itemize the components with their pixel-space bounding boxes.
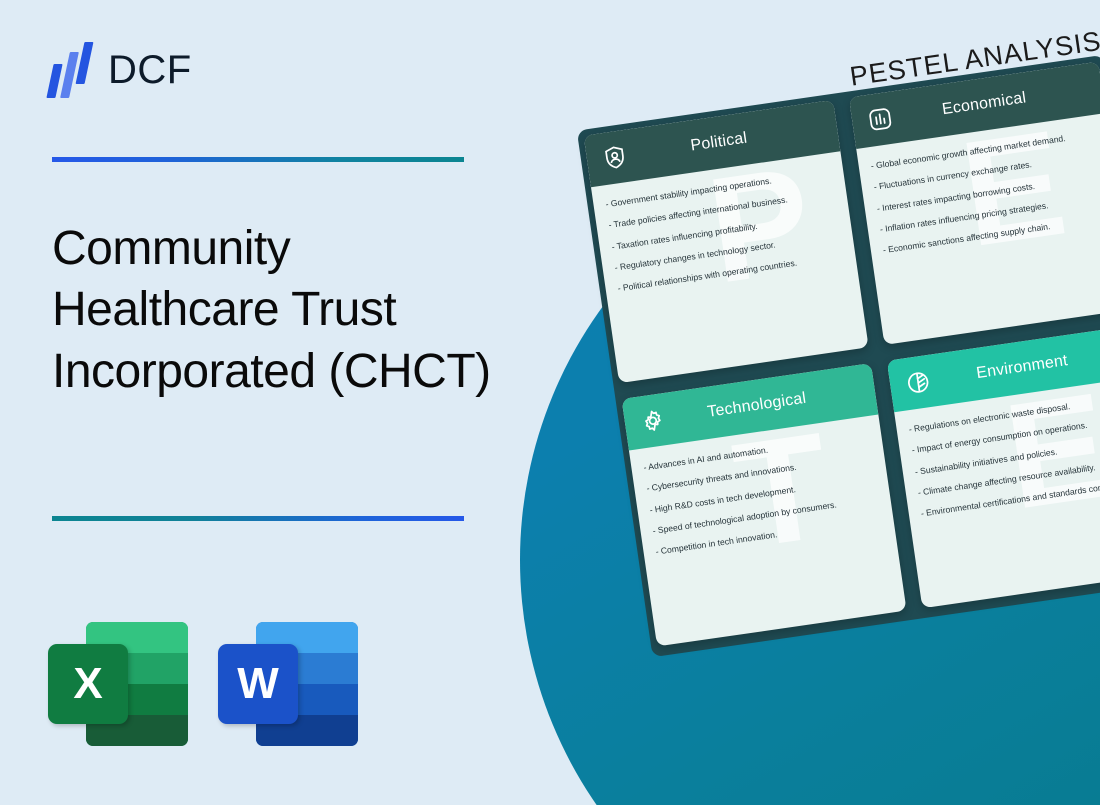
pestel-card-technological[interactable]: Technological T - Advances in AI and aut… [622, 363, 907, 646]
page-title: Community Healthcare Trust Incorporated … [52, 218, 502, 402]
gear-icon [635, 403, 671, 439]
word-file-icon[interactable]: W [218, 622, 358, 746]
divider-top [52, 157, 464, 162]
excel-file-icon[interactable]: X [48, 622, 188, 746]
bullet-list: - Regulations on electronic waste dispos… [908, 392, 1100, 519]
download-formats: X W [48, 622, 358, 746]
card-body: E - Global economic growth affecting mar… [856, 113, 1100, 345]
excel-badge-label: X [48, 644, 128, 724]
pestel-grid: Political P - Government stability impac… [584, 62, 1100, 651]
bar-chart-icon [862, 101, 898, 137]
brand-name: DCF [108, 48, 192, 93]
divider-bottom [52, 516, 464, 521]
pestel-artwork: PESTEL ANALYSIS Political P [500, 0, 1100, 805]
pestel-card-economical[interactable]: Economical E - Global economic growth af… [849, 62, 1100, 345]
card-body: E - Regulations on electronic waste disp… [894, 376, 1100, 608]
left-panel: DCF Community Healthcare Trust Incorpora… [0, 0, 520, 805]
shield-person-icon [597, 139, 633, 175]
card-body: P - Government stability impacting opera… [591, 151, 869, 383]
brand-logo[interactable]: DCF [48, 42, 192, 98]
leaf-icon [900, 364, 936, 400]
word-badge-label: W [218, 644, 298, 724]
pestel-card-political[interactable]: Political P - Government stability impac… [584, 100, 869, 383]
slide-canvas: DCF Community Healthcare Trust Incorpora… [0, 0, 1100, 805]
dcf-bars-logo-icon [48, 42, 94, 98]
bullet-list: - Government stability impacting operati… [605, 167, 844, 294]
card-body: T - Advances in AI and automation. - Cyb… [629, 415, 907, 647]
bullet-list: - Global economic growth affecting marke… [870, 129, 1100, 256]
bullet-list: - Advances in AI and automation. - Cyber… [643, 430, 882, 557]
pestel-card-environment[interactable]: Environment E - Regulations on electroni… [887, 325, 1100, 608]
